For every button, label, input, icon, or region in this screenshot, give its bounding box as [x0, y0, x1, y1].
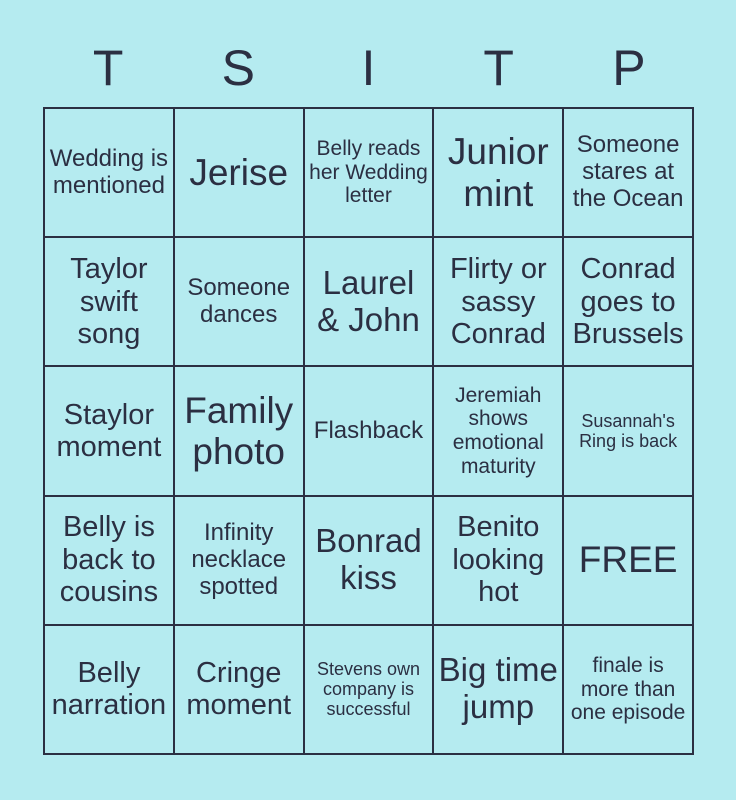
bingo-cell[interactable]: Junior mint [434, 109, 564, 238]
bingo-grid: Wedding is mentioned Jerise Belly reads … [43, 107, 694, 755]
bingo-cell[interactable]: Stevens own company is successful [305, 626, 435, 755]
bingo-cell-label: finale is more than one episode [568, 654, 688, 725]
bingo-cell[interactable]: Taylor swift song [45, 238, 175, 367]
bingo-cell[interactable]: Susannah's Ring is back [564, 367, 694, 496]
bingo-cell-label: Benito looking hot [438, 511, 558, 608]
bingo-cell[interactable]: Someone stares at the Ocean [564, 109, 694, 238]
bingo-cell[interactable]: Belly narration [45, 626, 175, 755]
bingo-cell[interactable]: Staylor moment [45, 367, 175, 496]
bingo-cell-label: Conrad goes to Brussels [568, 253, 688, 350]
header-letter-2: S [222, 43, 255, 93]
header-letter-5: P [612, 43, 645, 93]
header-letter-3: I [362, 43, 376, 93]
bingo-cell-label: Family photo [179, 390, 299, 473]
bingo-cell[interactable]: Family photo [175, 367, 305, 496]
bingo-cell-label: Belly reads her Wedding letter [309, 137, 429, 208]
bingo-cell-label: Big time jump [438, 652, 558, 726]
header-letter-4: T [483, 43, 514, 93]
bingo-cell[interactable]: Flirty or sassy Conrad [434, 238, 564, 367]
bingo-cell-label: Jeremiah shows emotional maturity [438, 384, 558, 478]
bingo-cell-label: Infinity necklace spotted [179, 520, 299, 601]
bingo-cell[interactable]: Jerise [175, 109, 305, 238]
bingo-cell-label: Bonrad kiss [309, 523, 429, 597]
bingo-header-row: T S I T P [43, 28, 694, 107]
bingo-cell[interactable]: Belly reads her Wedding letter [305, 109, 435, 238]
bingo-cell-label: FREE [568, 539, 688, 580]
bingo-cell-label: Someone stares at the Ocean [568, 132, 688, 213]
bingo-cell-free[interactable]: FREE [564, 497, 694, 626]
bingo-cell-label: Laurel & John [309, 265, 429, 339]
header-letter-1: T [93, 43, 124, 93]
bingo-card: T S I T P Wedding is mentioned Jerise Be… [0, 0, 736, 800]
bingo-cell-label: Stevens own company is successful [309, 659, 429, 719]
bingo-cell[interactable]: Bonrad kiss [305, 497, 435, 626]
bingo-cell-label: Susannah's Ring is back [568, 411, 688, 451]
bingo-cell-label: Belly narration [49, 657, 169, 722]
bingo-cell[interactable]: Flashback [305, 367, 435, 496]
bingo-cell[interactable]: Belly is back to cousins [45, 497, 175, 626]
bingo-cell-label: Cringe moment [179, 657, 299, 722]
bingo-cell-label: Jerise [179, 152, 299, 193]
bingo-cell[interactable]: Jeremiah shows emotional maturity [434, 367, 564, 496]
bingo-cell[interactable]: Someone dances [175, 238, 305, 367]
bingo-cell[interactable]: Infinity necklace spotted [175, 497, 305, 626]
bingo-cell[interactable]: Big time jump [434, 626, 564, 755]
bingo-cell-label: Someone dances [179, 275, 299, 329]
bingo-cell-label: Wedding is mentioned [49, 146, 169, 200]
bingo-cell-label: Flashback [309, 418, 429, 445]
bingo-cell-label: Flirty or sassy Conrad [438, 253, 558, 350]
bingo-cell[interactable]: Conrad goes to Brussels [564, 238, 694, 367]
bingo-cell[interactable]: Wedding is mentioned [45, 109, 175, 238]
bingo-cell-label: Staylor moment [49, 399, 169, 464]
bingo-cell[interactable]: Cringe moment [175, 626, 305, 755]
bingo-cell[interactable]: finale is more than one episode [564, 626, 694, 755]
bingo-cell[interactable]: Laurel & John [305, 238, 435, 367]
bingo-cell-label: Belly is back to cousins [49, 511, 169, 608]
bingo-cell-label: Taylor swift song [49, 253, 169, 350]
bingo-cell[interactable]: Benito looking hot [434, 497, 564, 626]
bingo-cell-label: Junior mint [438, 131, 558, 214]
